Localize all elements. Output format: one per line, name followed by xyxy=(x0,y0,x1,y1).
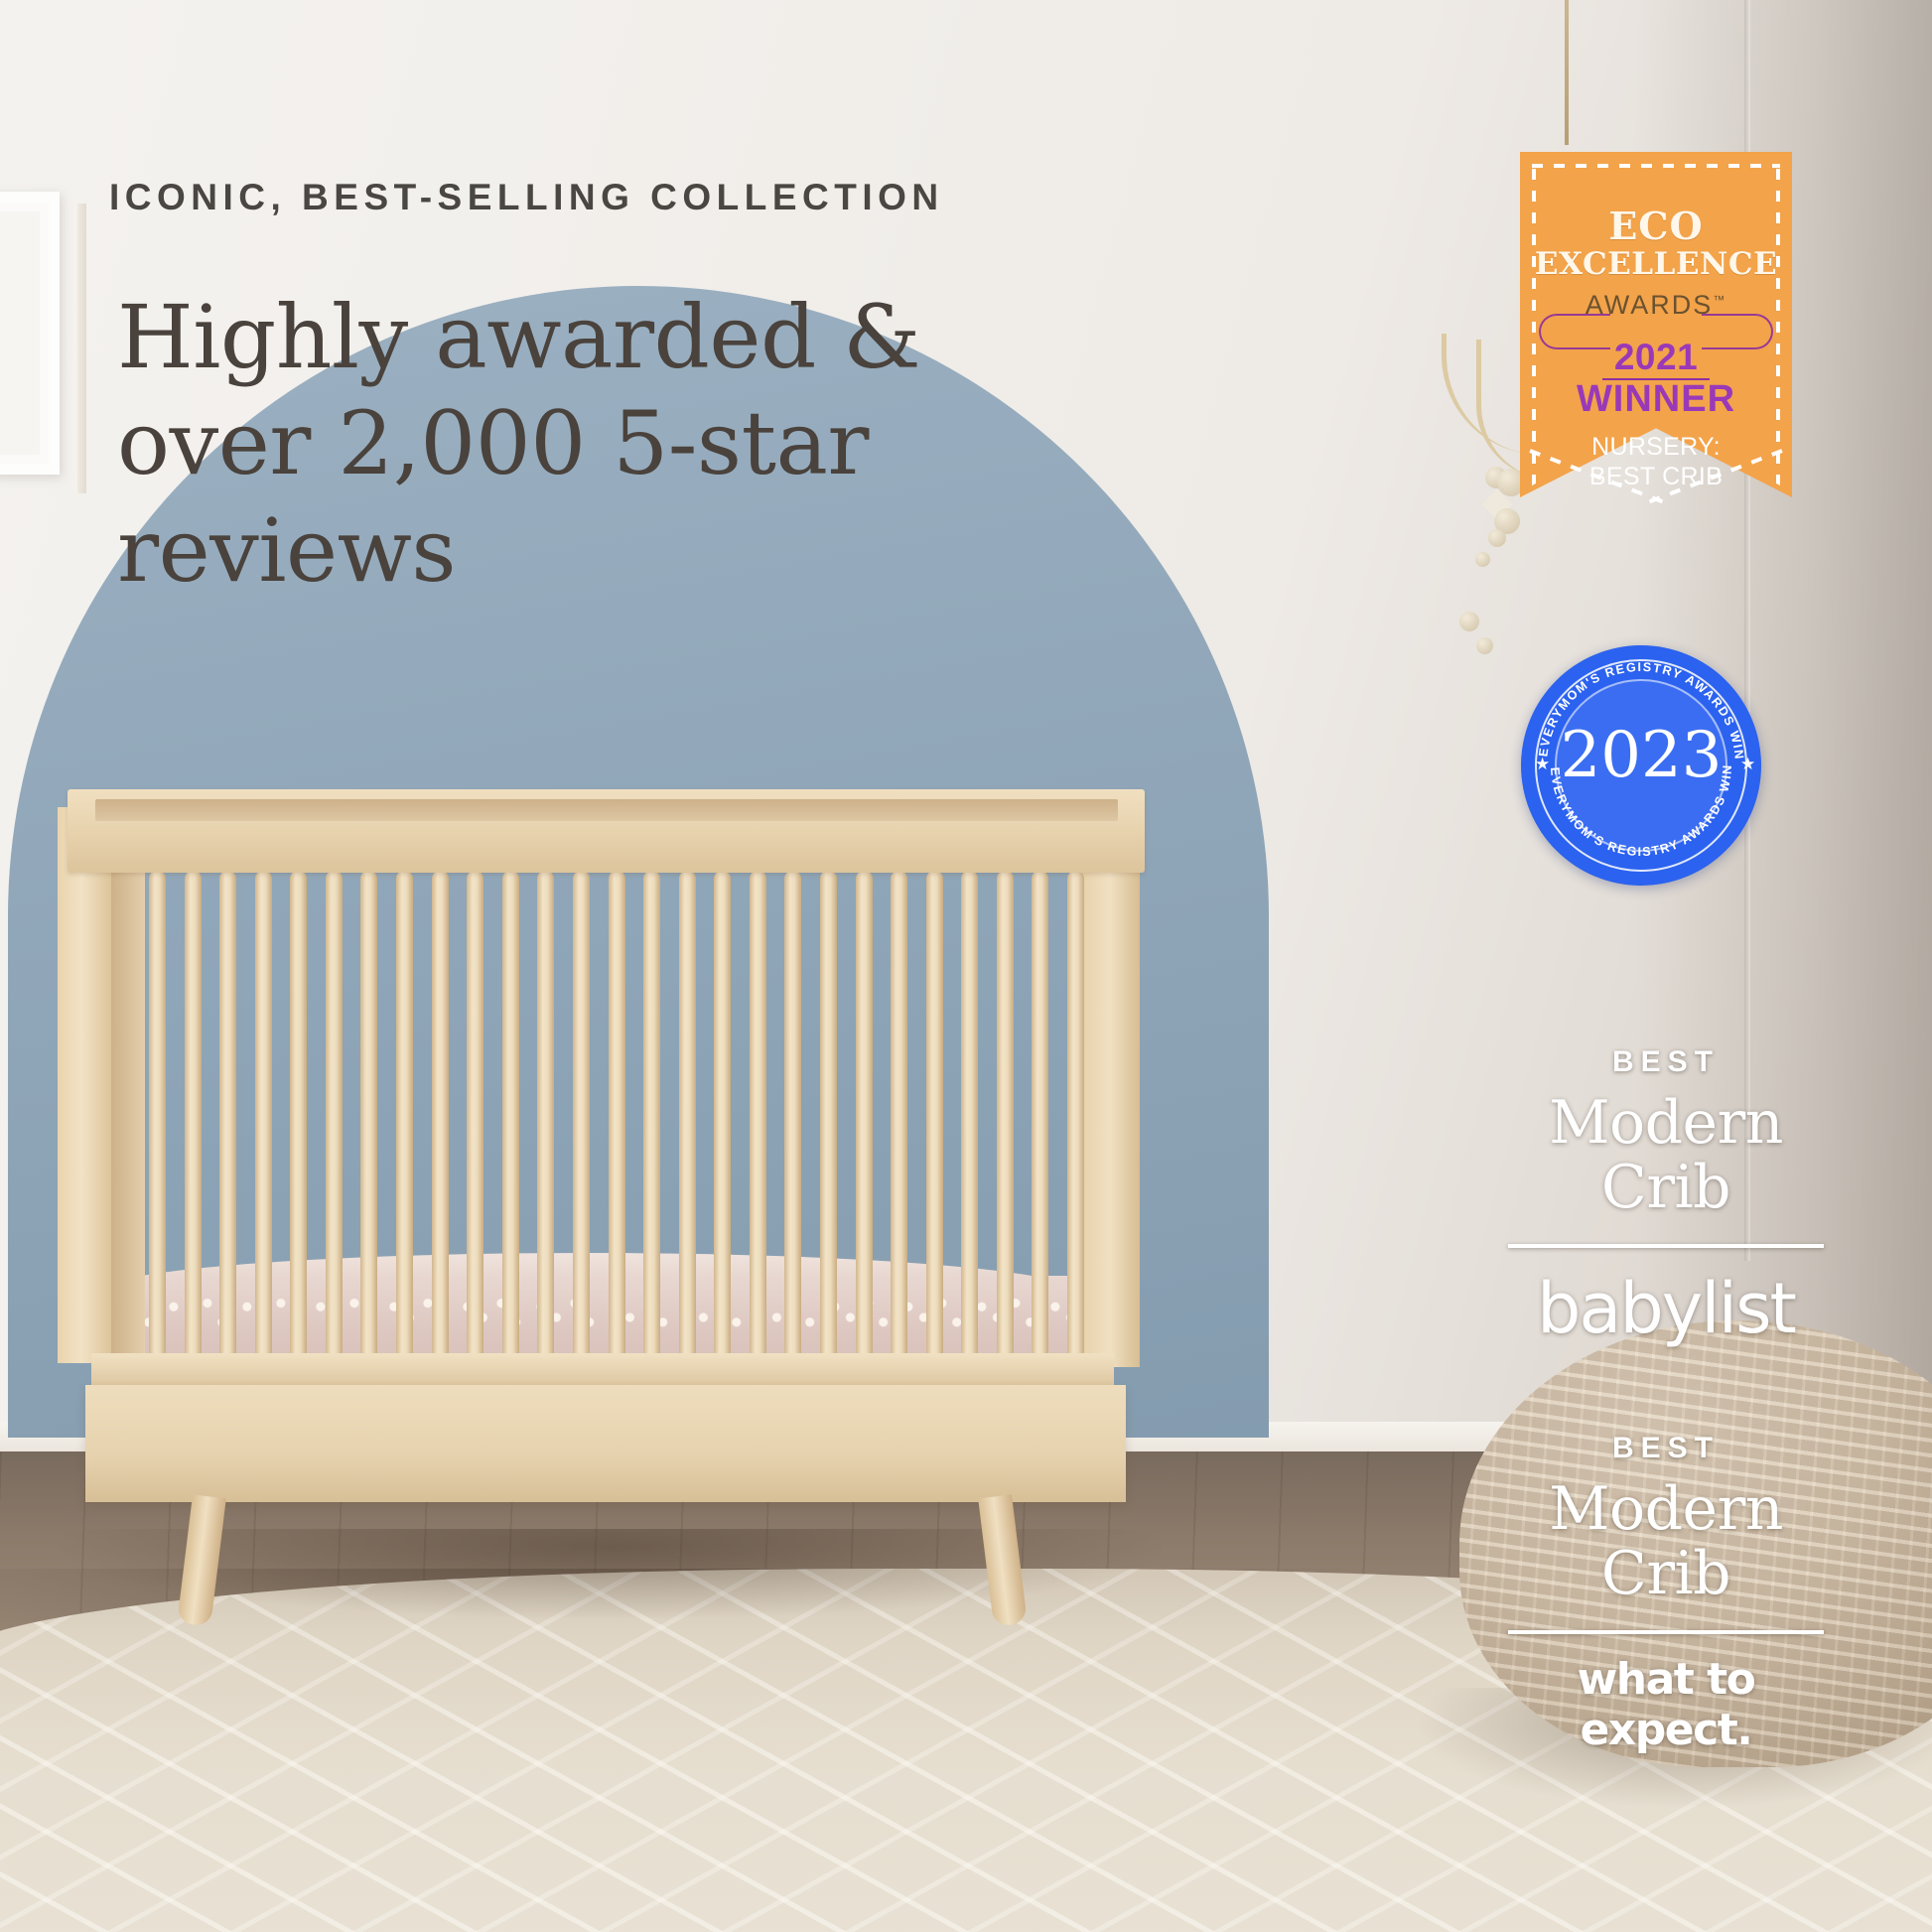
convertible-crib xyxy=(58,789,1145,1569)
crib-slat xyxy=(219,871,236,1359)
headline-line-1: Highly awarded & xyxy=(117,286,920,388)
crib-slat xyxy=(290,871,307,1359)
award-best-label: BEST xyxy=(1502,1045,1830,1079)
award-name-line2: Crib xyxy=(1601,1539,1730,1608)
crib-slat xyxy=(820,871,837,1359)
crib-slat xyxy=(573,871,590,1359)
crib-slat xyxy=(360,871,377,1359)
crib-right-post xyxy=(1080,811,1140,1367)
award-name-line1: Modern xyxy=(1549,1088,1783,1158)
babylist-logo: babylist xyxy=(1502,1268,1830,1349)
crib-slat xyxy=(185,871,202,1359)
crib-slat xyxy=(432,871,449,1359)
promo-banner: VED xyxy=(0,0,1932,1932)
what-to-expect-logo: what to expect. xyxy=(1502,1654,1830,1755)
crib-bottom-rail xyxy=(91,1353,1114,1389)
eco-flourish-right-icon xyxy=(1702,314,1773,349)
award-name-line2: Crib xyxy=(1601,1153,1730,1222)
wall-picture-frame: VED xyxy=(0,192,60,475)
eco-category-line1: NURSERY: xyxy=(1520,432,1792,463)
crib-left-post xyxy=(58,807,111,1363)
award-what-to-expect: BEST Modern Crib what to expect. xyxy=(1502,1432,1830,1755)
frame-mat xyxy=(0,211,40,455)
crib-slat xyxy=(891,871,907,1359)
award-name: Modern Crib xyxy=(1502,1477,1830,1606)
eco-brand-line2: EXCELLENCE xyxy=(1520,245,1792,284)
trademark-symbol: ™ xyxy=(1713,293,1726,307)
eyebrow-text: ICONIC, BEST-SELLING COLLECTION xyxy=(109,177,944,218)
crib-slat xyxy=(997,871,1014,1359)
crib-slat xyxy=(149,871,166,1359)
crib-slat xyxy=(643,871,660,1359)
eco-flourish-left-icon xyxy=(1539,314,1610,349)
crib-top-rail xyxy=(68,789,1145,873)
mobile-bead xyxy=(1488,529,1506,547)
crib-slat xyxy=(326,871,343,1359)
award-name: Modern Crib xyxy=(1502,1091,1830,1220)
crib-slat xyxy=(609,871,625,1359)
award-babylist: BEST Modern Crib babylist xyxy=(1502,1045,1830,1349)
award-divider xyxy=(1508,1244,1824,1248)
crib-top-rail-inner xyxy=(95,799,1118,821)
eco-category-line2: BEST CRIB xyxy=(1520,462,1792,492)
mobile-bead xyxy=(1475,552,1490,567)
crib-slat xyxy=(537,871,554,1359)
crib-slat xyxy=(396,871,413,1359)
crib-slat xyxy=(255,871,272,1359)
crib-left-post-inner xyxy=(111,813,145,1354)
award-best-label: BEST xyxy=(1502,1432,1830,1465)
crib-slat xyxy=(750,871,766,1359)
crib-slat xyxy=(1067,871,1084,1359)
eco-brand-line1: ECO xyxy=(1520,207,1792,245)
crib-base-panel xyxy=(85,1385,1126,1502)
crib-slat xyxy=(926,871,943,1359)
crib-slats xyxy=(149,871,1084,1359)
crib-slat xyxy=(1032,871,1048,1359)
frame-edge xyxy=(77,204,86,493)
crib-slat xyxy=(856,871,873,1359)
crib-slat xyxy=(467,871,483,1359)
crib-slat xyxy=(679,871,696,1359)
eco-winner-label: WINNER xyxy=(1520,380,1792,420)
crib-slat xyxy=(714,871,731,1359)
award-name-line1: Modern xyxy=(1549,1474,1783,1544)
headline-line-2: over 2,000 5-star reviews xyxy=(117,390,1199,604)
mobile-bead xyxy=(1459,612,1479,631)
crib-slat xyxy=(502,871,519,1359)
mobile-bead xyxy=(1476,637,1493,654)
page-title: Highly awarded & over 2,000 5-star revie… xyxy=(117,284,1199,604)
everymom-year: 2023 xyxy=(1521,719,1761,792)
crib-slat xyxy=(784,871,801,1359)
award-divider xyxy=(1508,1630,1824,1634)
crib-slat xyxy=(961,871,978,1359)
mobile-cord xyxy=(1565,0,1569,145)
